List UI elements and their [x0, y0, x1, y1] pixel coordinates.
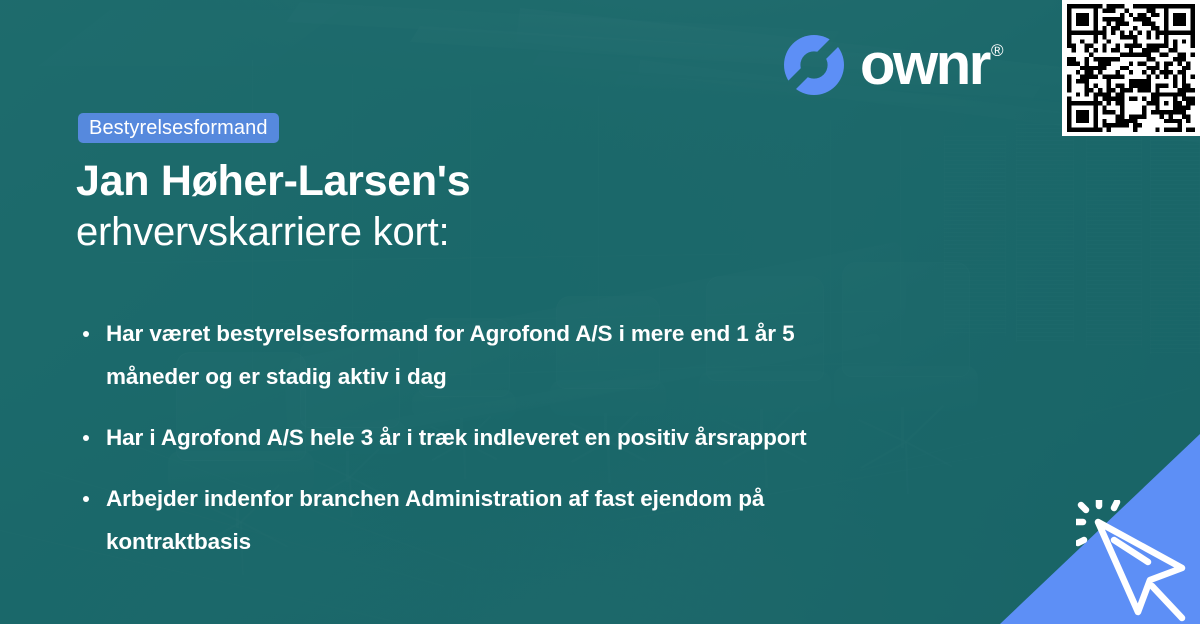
- list-item: Arbejder indenfor branchen Administratio…: [76, 477, 866, 563]
- business-card: Bestyrelsesformand Jan Høher-Larsen's er…: [0, 0, 1200, 624]
- ownr-logo[interactable]: ownr ®: [782, 33, 1003, 97]
- headline-line-2: erhvervskarriere kort:: [76, 207, 776, 257]
- role-badge: Bestyrelsesformand: [78, 113, 279, 143]
- role-badge-label: Bestyrelsesformand: [89, 117, 268, 140]
- list-item-text: Arbejder indenfor branchen Administratio…: [106, 486, 764, 554]
- career-highlights-list: Har været bestyrelsesformand for Agrofon…: [76, 312, 876, 563]
- ownr-wordmark-text: ownr: [860, 36, 989, 94]
- ownr-wordmark: ownr ®: [860, 36, 1003, 94]
- headline-line-1: Jan Høher-Larsen's: [76, 155, 776, 207]
- list-item-text: Har i Agrofond A/S hele 3 år i træk indl…: [106, 425, 806, 450]
- page-title: Jan Høher-Larsen's erhvervskarriere kort…: [76, 155, 776, 257]
- blue-triangle: [1000, 434, 1200, 624]
- corner-accent: [1000, 434, 1200, 624]
- qr-code[interactable]: [1062, 0, 1200, 136]
- list-item-text: Har været bestyrelsesformand for Agrofon…: [106, 321, 795, 389]
- card-content: Bestyrelsesformand Jan Høher-Larsen's er…: [0, 0, 1200, 624]
- bullet-dot-icon: [83, 435, 89, 441]
- registered-trademark-symbol: ®: [991, 40, 1004, 62]
- click-cursor-icon: [1076, 500, 1196, 624]
- bullet-dot-icon: [83, 496, 89, 502]
- bullet-dot-icon: [83, 331, 89, 337]
- ownr-circle-mark-icon: [782, 33, 846, 97]
- list-item: Har i Agrofond A/S hele 3 år i træk indl…: [76, 416, 866, 459]
- list-item: Har været bestyrelsesformand for Agrofon…: [76, 312, 866, 398]
